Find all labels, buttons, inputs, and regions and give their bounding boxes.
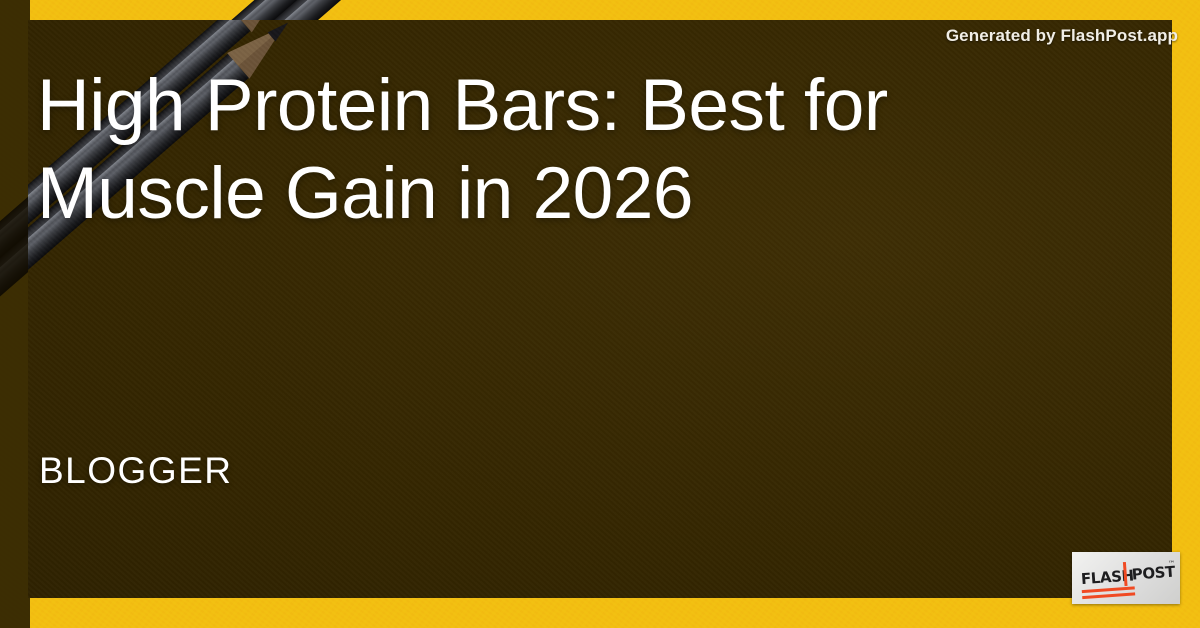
flashpost-logo-accent-line-2: [1082, 592, 1135, 599]
byline-label: BLOGGER: [39, 450, 233, 492]
flashpost-logo: FLASH POST ™: [1072, 552, 1180, 604]
page-title: High Protein Bars: Best for Muscle Gain …: [37, 62, 1037, 238]
flashpost-logo-trademark-icon: ™: [1168, 560, 1176, 568]
frame-shadow-overlay: [0, 0, 30, 628]
page-title-line-1: High Protein Bars: Best for: [37, 65, 888, 146]
poster-canvas: Generated by FlashPost.app High Protein …: [0, 0, 1200, 628]
page-title-line-2: Muscle Gain in 2026: [37, 150, 1037, 238]
flashpost-logo-inner: FLASH POST ™: [1070, 548, 1181, 607]
generated-by-credit: Generated by FlashPost.app: [946, 26, 1178, 46]
